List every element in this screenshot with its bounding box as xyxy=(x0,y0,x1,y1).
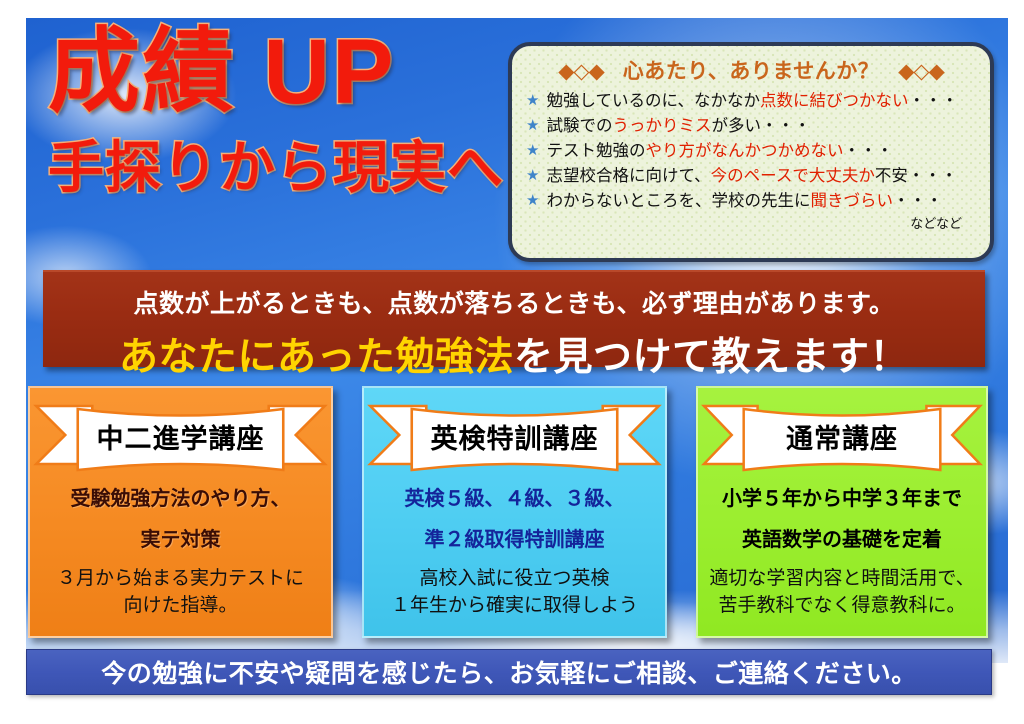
course-plain-line-1: ３月から始まる実力テストに xyxy=(38,566,323,592)
course-card-body: 受験勉強方法のやり方、 実テ対策 ３月から始まる実力テストに 向けた指導。 xyxy=(30,476,331,619)
ribbon-banner: 通常講座 xyxy=(698,396,986,476)
headline-main: 成績 UP xyxy=(48,26,488,118)
list-item: ★ テスト勉強のやり方がなんかつかめない・・・ xyxy=(526,139,984,164)
star-icon: ★ xyxy=(526,189,539,213)
list-item-text: テスト勉強のやり方がなんかつかめない・・・ xyxy=(546,139,893,164)
star-icon: ★ xyxy=(526,139,539,163)
list-item: ★ 勉強しているのに、なかなか点数に結びつかない・・・ xyxy=(526,89,984,114)
course-bold-line-2: 実テ対策 xyxy=(38,527,323,554)
ribbon-banner: 英検特訓講座 xyxy=(364,396,665,476)
course-bold-line-1: 受験勉強方法のやり方、 xyxy=(38,486,323,513)
red-message-banner: 点数が上がるときも、点数が落ちるときも、必ず理由があります。 あなたにあった勉強… xyxy=(43,270,985,367)
poster-root: 成績 UP 手探りから現実へ ◆◇◆ 心あたり、ありませんか？ ◆◇◆ ★ 勉強… xyxy=(0,0,1024,724)
course-cards: 中二進学講座 受験勉強方法のやり方、 実テ対策 ３月から始まる実力テストに 向け… xyxy=(28,386,988,638)
list-item: ★ 試験でのうっかりミスが多い・・・ xyxy=(526,114,984,139)
course-bold-line-1: 小学５年から中学３年まで xyxy=(706,486,978,513)
red-banner-line1: 点数が上がるときも、点数が落ちるときも、必ず理由があります。 xyxy=(43,284,985,320)
star-icon: ★ xyxy=(526,114,539,138)
infobox-title-text: 心あたり、ありませんか？ xyxy=(623,60,880,83)
list-item-text: 勉強しているのに、なかなか点数に結びつかない・・・ xyxy=(546,89,958,114)
concerns-infobox: ◆◇◆ 心あたり、ありませんか？ ◆◇◆ ★ 勉強しているのに、なかなか点数に結… xyxy=(508,42,994,262)
course-plain-line-1: 高校入試に役立つ英検 xyxy=(372,566,657,592)
star-icon: ★ xyxy=(526,164,539,188)
list-item-text: 試験でのうっかりミスが多い・・・ xyxy=(546,114,810,139)
infobox-title-row: ◆◇◆ 心あたり、ありませんか？ ◆◇◆ xyxy=(512,55,990,85)
headline-sub: 手探りから現実へ xyxy=(48,140,488,196)
course-bold-line-1: 英検５級、４級、３級、 xyxy=(372,486,657,513)
course-card-title: 通常講座 xyxy=(698,396,986,476)
course-bold-line-2: 準２級取得特訓講座 xyxy=(372,527,657,554)
contact-banner-text: 今の勉強に不安や疑問を感じたら、お気軽にご相談、ご連絡ください。 xyxy=(101,654,917,690)
course-card-eiken[interactable]: 英検特訓講座 英検５級、４級、３級、 準２級取得特訓講座 高校入試に役立つ英検 … xyxy=(362,386,667,638)
ribbon-banner: 中二進学講座 xyxy=(30,396,331,476)
course-plain-line-1: 適切な学習内容と時間活用で、 xyxy=(706,566,978,592)
red-banner-highlight: あなたにあった勉強法 xyxy=(119,336,514,379)
headline-block: 成績 UP 手探りから現実へ xyxy=(48,26,488,196)
course-bold-line-2: 英語数学の基礎を定着 xyxy=(706,527,978,554)
list-item-text: 志望校合格に向けて、今のペースで大丈夫か不安・・・ xyxy=(546,164,957,189)
course-card-title: 中二進学講座 xyxy=(30,396,331,476)
course-plain-line-2: １年生から確実に取得しよう xyxy=(372,593,657,619)
red-banner-rest: を見つけて教えます！ xyxy=(514,336,909,379)
diamond-left-icon: ◆◇◆ xyxy=(558,60,603,83)
course-card-body: 小学５年から中学３年まで 英語数学の基礎を定着 適切な学習内容と時間活用で、 苦… xyxy=(698,476,986,619)
course-card-body: 英検５級、４級、３級、 準２級取得特訓講座 高校入試に役立つ英検 １年生から確実… xyxy=(364,476,665,619)
course-card-regular[interactable]: 通常講座 小学５年から中学３年まで 英語数学の基礎を定着 適切な学習内容と時間活… xyxy=(696,386,988,638)
course-card-chuni[interactable]: 中二進学講座 受験勉強方法のやり方、 実テ対策 ３月から始まる実力テストに 向け… xyxy=(28,386,333,638)
contact-banner[interactable]: 今の勉強に不安や疑問を感じたら、お気軽にご相談、ご連絡ください。 xyxy=(26,649,992,695)
list-item-text: わからないところを、学校の先生に聞きづらい・・・ xyxy=(546,189,942,214)
course-plain-line-2: 向けた指導。 xyxy=(38,593,323,619)
course-card-title: 英検特訓講座 xyxy=(364,396,665,476)
list-item: ★ わからないところを、学校の先生に聞きづらい・・・ xyxy=(526,189,984,214)
list-item: ★ 志望校合格に向けて、今のペースで大丈夫か不安・・・ xyxy=(526,164,984,189)
concerns-list: ★ 勉強しているのに、なかなか点数に結びつかない・・・ ★ 試験でのうっかりミス… xyxy=(512,89,990,214)
course-plain-line-2: 苦手教科でなく得意教科に。 xyxy=(706,593,978,619)
infobox-footer: などなど xyxy=(512,213,990,232)
star-icon: ★ xyxy=(526,89,539,113)
red-banner-line2: あなたにあった勉強法を見つけて教えます！ xyxy=(43,326,985,382)
diamond-right-icon: ◆◇◆ xyxy=(898,60,943,83)
